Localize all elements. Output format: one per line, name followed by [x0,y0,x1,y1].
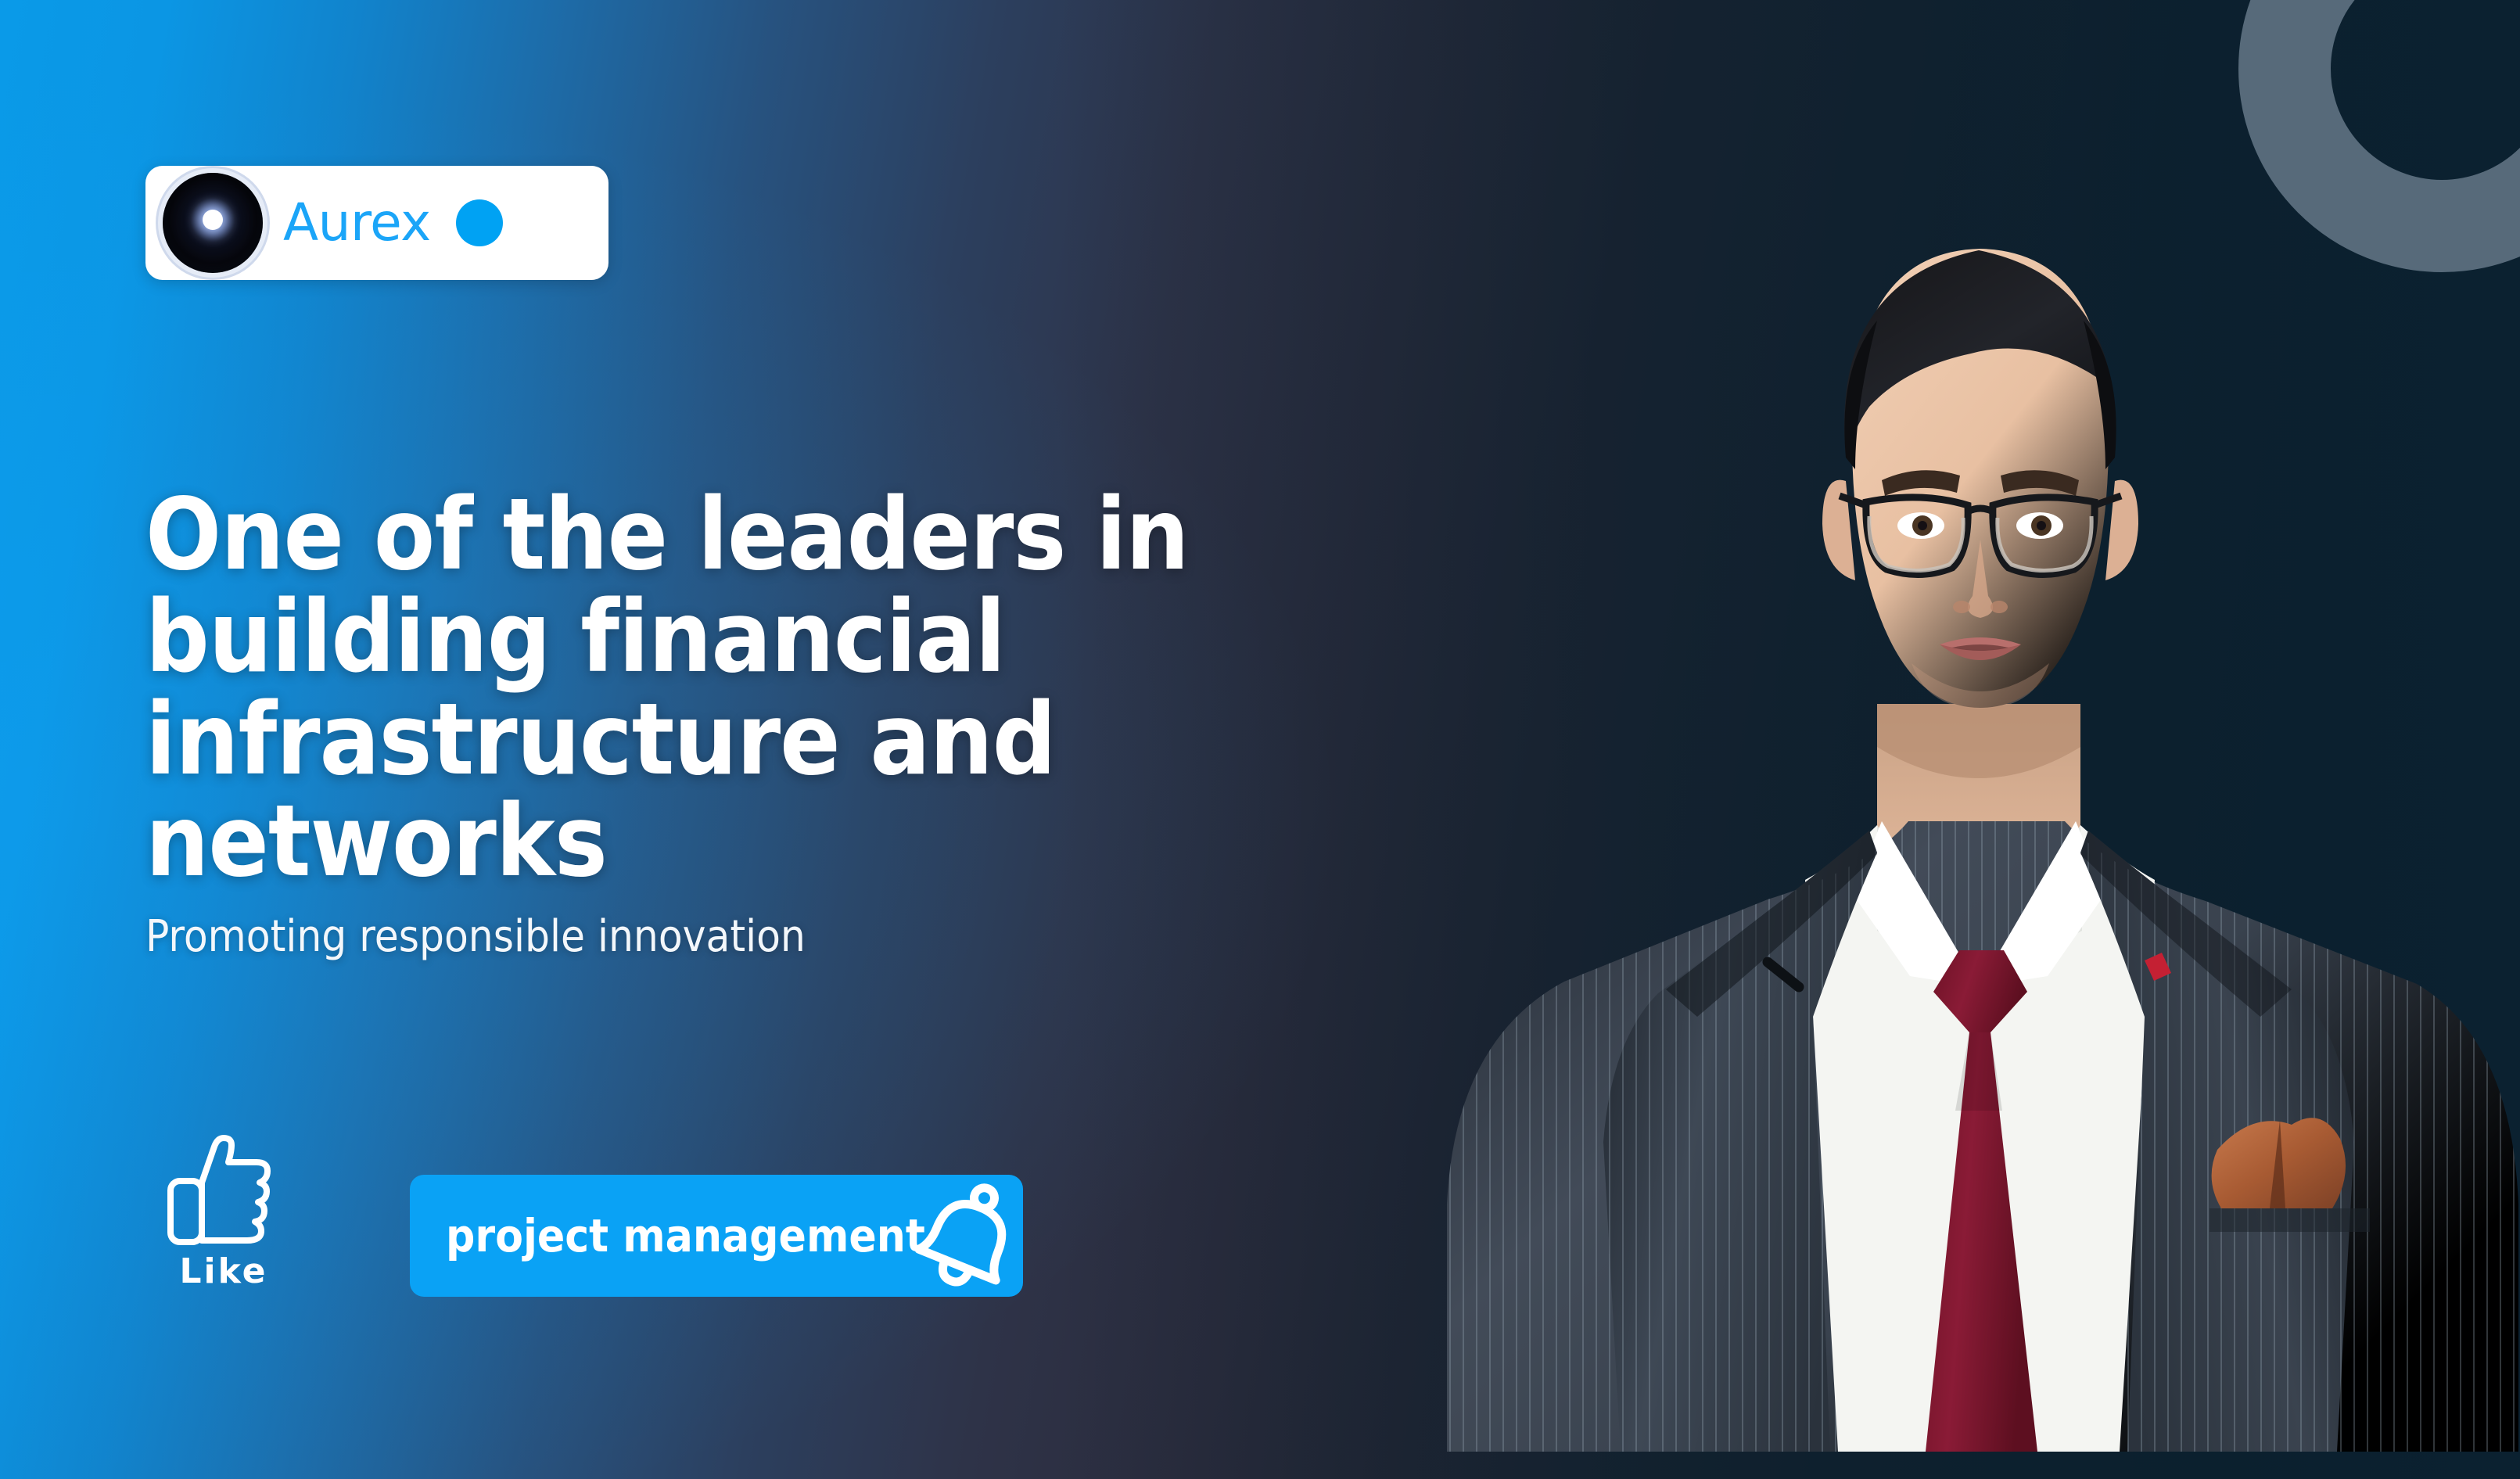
action-row: Like project management [145,1126,1023,1297]
thumbs-up-icon [164,1134,283,1251]
blue-dot-icon [456,199,503,246]
camera-lens-icon [163,173,263,273]
like-label: Like [179,1255,267,1289]
cta-label: project management [446,1213,925,1258]
page-title: One of the leaders in building financial… [145,483,1428,892]
presenter-photo [1330,0,2520,1452]
cta-wrapper: project management [410,1175,1023,1297]
page-subtitle: Promoting responsible innovation [145,913,1428,961]
hero-copy: One of the leaders in building financial… [145,483,1428,961]
like-button[interactable]: Like [145,1134,302,1289]
brand-badge[interactable]: Aurex [145,166,608,280]
brand-name: Aurex [283,197,431,249]
bell-icon[interactable] [910,1175,1028,1297]
hero-banner: Aurex One of the leaders in building fin… [0,0,2520,1479]
